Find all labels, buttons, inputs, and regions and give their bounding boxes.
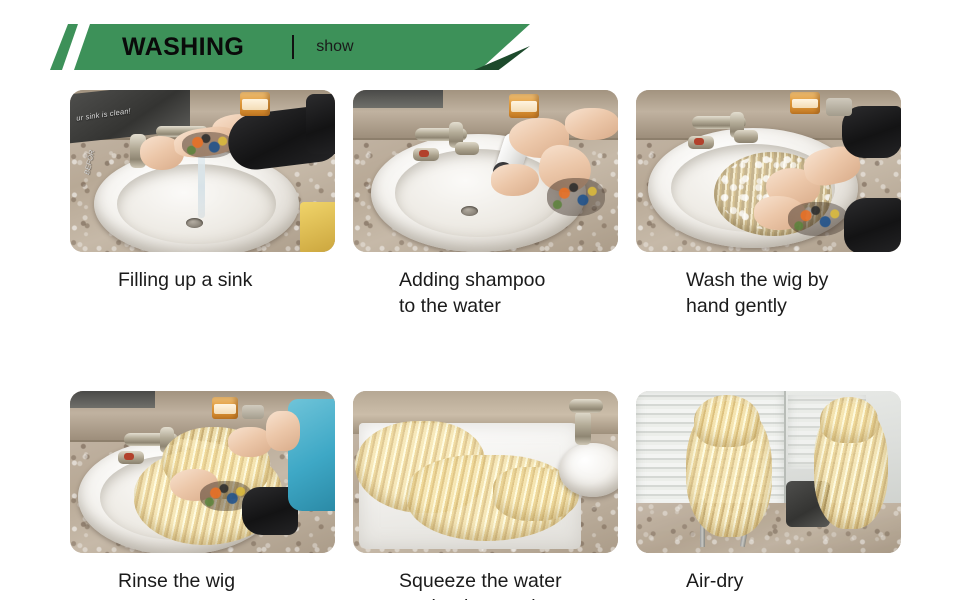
- section-header-banner: WASHING show: [50, 24, 530, 70]
- step-card-4: Rinse the wig: [70, 391, 335, 600]
- wig-on-dry-towel-photo: [353, 391, 618, 553]
- rinsing-wig-photo: [70, 391, 335, 553]
- step-caption-1: Filling up a sink: [70, 268, 335, 294]
- washing-instructions-page: WASHING show ur sink is clean! BEFOR: [0, 0, 970, 600]
- step-card-2: Adding shampoo to the water: [353, 90, 618, 319]
- step-caption-2: Adding shampoo to the water: [353, 268, 618, 319]
- banner-divider: [292, 35, 294, 59]
- step-card-6: Air-dry: [636, 391, 901, 600]
- page-title: WASHING: [122, 35, 244, 60]
- step-caption-6: Air-dry: [636, 569, 901, 595]
- step-card-1: ur sink is clean! BEFOR: [70, 90, 335, 319]
- step-caption-4: Rinse the wig: [70, 569, 335, 595]
- step-caption-5: Squeeze the water out by dry towel: [353, 569, 618, 600]
- sink-filling-with-water-photo: ur sink is clean! BEFOR: [70, 90, 335, 252]
- washing-wig-by-hand-photo: [636, 90, 901, 252]
- banner-subtitle: show: [316, 38, 353, 56]
- step-card-5: Squeeze the water out by dry towel: [353, 391, 618, 600]
- banner-text-group: WASHING show: [50, 24, 354, 70]
- adding-shampoo-photo: [353, 90, 618, 252]
- step-card-3: Wash the wig by hand gently: [636, 90, 901, 319]
- step-caption-3: Wash the wig by hand gently: [636, 268, 901, 319]
- washing-steps-grid: ur sink is clean! BEFOR: [70, 90, 900, 600]
- wig-air-drying-photo: [636, 391, 901, 553]
